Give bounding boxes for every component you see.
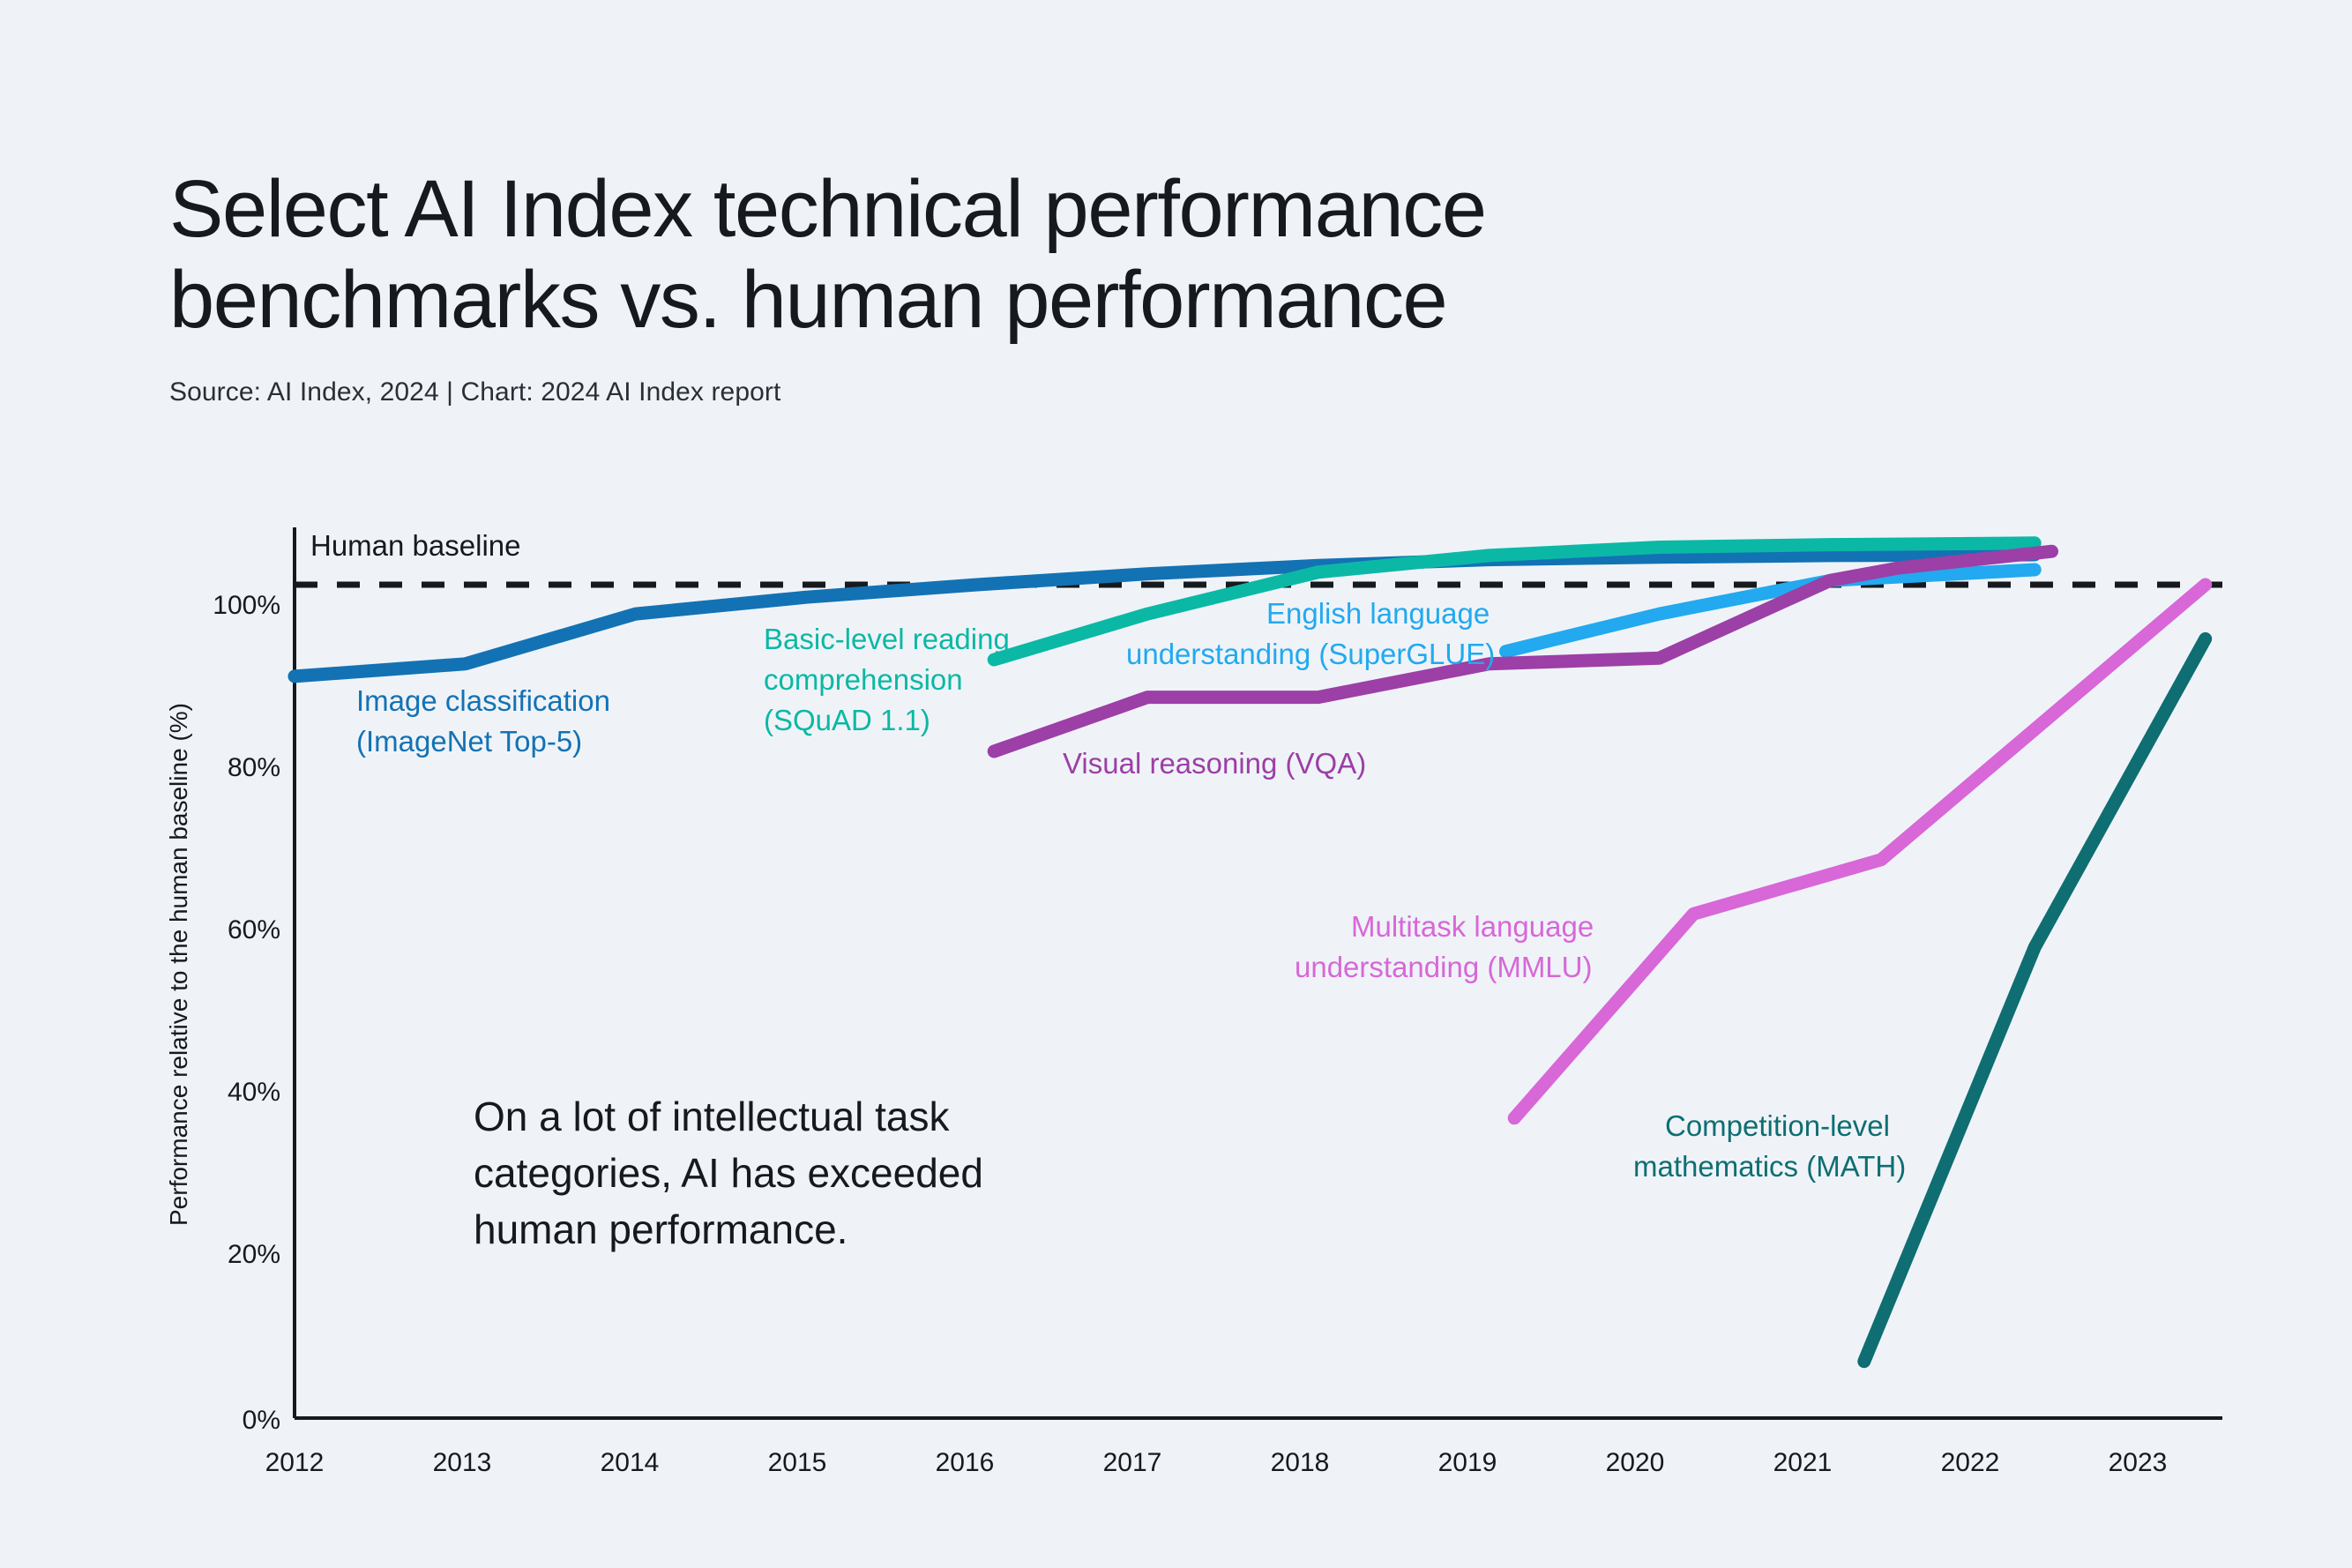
x-tick-2019: 2019 xyxy=(1438,1448,1497,1477)
x-tick-2023: 2023 xyxy=(2109,1448,2168,1477)
x-tick-2012: 2012 xyxy=(265,1448,325,1477)
label-math-line2: mathematics (MATH) xyxy=(1633,1150,1906,1183)
label-image-classification-line2: (ImageNet Top-5) xyxy=(356,725,582,758)
chart-page: Select AI Index technical performanceben… xyxy=(0,0,2352,1568)
label-superglue-line1: English language xyxy=(1266,597,1490,630)
x-tick-2016: 2016 xyxy=(936,1448,995,1477)
y-tick-5: 100% xyxy=(213,591,280,620)
y-tick-0: 0% xyxy=(243,1406,280,1435)
y-axis-title: Performance relative to the human baseli… xyxy=(165,703,192,1226)
annotation-block: On a lot of intellectual task categories… xyxy=(474,1094,983,1252)
line-chart: Performance relative to the human baseli… xyxy=(0,0,2352,1568)
x-tick-2017: 2017 xyxy=(1103,1448,1162,1477)
y-tick-2: 40% xyxy=(228,1078,280,1107)
x-tick-2013: 2013 xyxy=(433,1448,492,1477)
plot-area: Performance relative to the human baseli… xyxy=(0,0,2352,1568)
y-tick-3: 60% xyxy=(228,915,280,945)
x-tick-labels: 2012 2013 2014 2015 2016 2017 2018 2019 … xyxy=(265,1448,2168,1477)
x-tick-2022: 2022 xyxy=(1941,1448,2000,1477)
series-path-5 xyxy=(1864,638,2206,1361)
label-math-line1: Competition-level xyxy=(1665,1109,1890,1142)
x-tick-2018: 2018 xyxy=(1271,1448,1330,1477)
label-superglue-line2: understanding (SuperGLUE) xyxy=(1126,638,1495,670)
y-tick-4: 80% xyxy=(228,753,280,782)
label-image-classification-line1: Image classification xyxy=(356,684,610,717)
y-tick-labels: 0% 20% 40% 60% 80% 100% xyxy=(213,591,280,1435)
label-squad-line2: comprehension xyxy=(764,663,963,696)
label-mmlu-line2: understanding (MMLU) xyxy=(1295,951,1592,983)
x-tick-2021: 2021 xyxy=(1773,1448,1833,1477)
label-vqa: Visual reasoning (VQA) xyxy=(1063,747,1366,780)
label-mmlu-line1: Multitask language xyxy=(1351,910,1594,943)
annotation-line-3: human performance. xyxy=(474,1206,847,1252)
label-squad-line3: (SQuAD 1.1) xyxy=(764,704,930,736)
x-tick-2014: 2014 xyxy=(601,1448,660,1477)
human-baseline-label: Human baseline xyxy=(310,529,520,562)
label-squad-line1: Basic-level reading xyxy=(764,623,1010,655)
x-tick-2015: 2015 xyxy=(768,1448,827,1477)
x-tick-2020: 2020 xyxy=(1606,1448,1665,1477)
annotation-line-1: On a lot of intellectual task xyxy=(474,1094,951,1139)
y-tick-1: 20% xyxy=(228,1240,280,1269)
annotation-line-2: categories, AI has exceeded xyxy=(474,1150,983,1196)
